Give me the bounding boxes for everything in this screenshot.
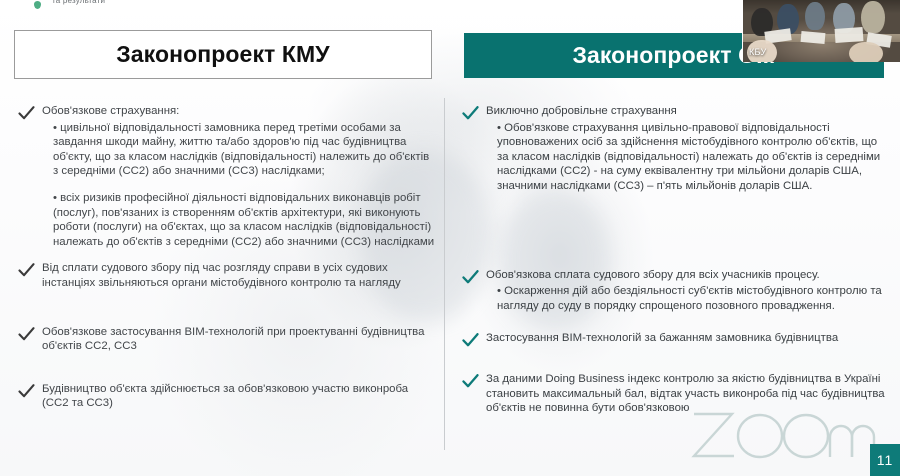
page-number-badge: 11 [870, 444, 900, 476]
bullet-lead: За даними Doing Business індекс контролю… [486, 372, 886, 416]
header-box-left: Законопроект КМУ [14, 30, 432, 79]
left-column: Обов'язкове страхування: • цивільної від… [18, 104, 436, 411]
column-divider [444, 98, 445, 450]
bullet-lead: Обов'язкова сплата судового збору для вс… [486, 268, 886, 283]
video-paper [835, 27, 864, 43]
video-paper [801, 31, 826, 44]
bullet-lead: Обов'язкове застосування BIM-технологій … [42, 325, 436, 354]
right-column: Виключно добровільне страхування • Обов'… [462, 104, 886, 416]
bullet-sub: • цивільної відповідальності замовника п… [42, 121, 436, 179]
bullet-block: Будівництво об'єкта здійснюється за обов… [18, 382, 436, 411]
video-person [805, 2, 825, 30]
bullet-sub: • Обов'язкове страхування цивільно-право… [486, 121, 886, 194]
check-icon [18, 327, 35, 342]
bullet-block: Обов'язкова сплата судового збору для вс… [462, 268, 886, 314]
video-person [861, 1, 885, 33]
bullet-sub: • всіх ризиків професійної діяльності ві… [42, 191, 436, 249]
video-participant-tile[interactable]: КБУ [742, 0, 900, 62]
bullet-block: Виключно добровільне страхування • Обов'… [462, 104, 886, 194]
bullet-block: Застосування BIM-технологій за бажанням … [462, 331, 886, 346]
video-participant-name: КБУ [749, 47, 767, 57]
bullet-block: Обов'язкове страхування: • цивільної від… [18, 104, 436, 249]
bullet-lead: Обов'язкове страхування: [42, 104, 436, 119]
bullet-block: За даними Doing Business індекс контролю… [462, 372, 886, 416]
check-icon [462, 106, 479, 121]
check-icon [462, 270, 479, 285]
check-icon [18, 106, 35, 121]
bullet-lead: Від сплати судового збору під час розгля… [42, 261, 436, 290]
bullet-block: Від сплати судового збору під час розгля… [18, 261, 436, 290]
bullet-lead: Виключно добровільне страхування [486, 104, 886, 119]
bullet-block: Обов'язкове застосування BIM-технологій … [18, 325, 436, 354]
check-icon [18, 384, 35, 399]
bullet-sub: • Оскарження дій або бездіяльності суб'є… [486, 284, 886, 313]
presentation-slide: та результати Законопроект КМУ Законопро… [0, 0, 900, 476]
video-person-hands [849, 42, 883, 62]
header-left-title: Законопроект КМУ [116, 41, 329, 68]
check-icon [462, 333, 479, 348]
top-sliver-text: та результати [52, 0, 105, 5]
check-icon [462, 374, 479, 389]
page-number: 11 [877, 452, 894, 468]
bullet-lead: Будівництво об'єкта здійснюється за обов… [42, 382, 436, 411]
bullet-dot-icon [34, 1, 41, 9]
bullet-lead: Застосування BIM-технологій за бажанням … [486, 331, 886, 346]
check-icon [18, 263, 35, 278]
